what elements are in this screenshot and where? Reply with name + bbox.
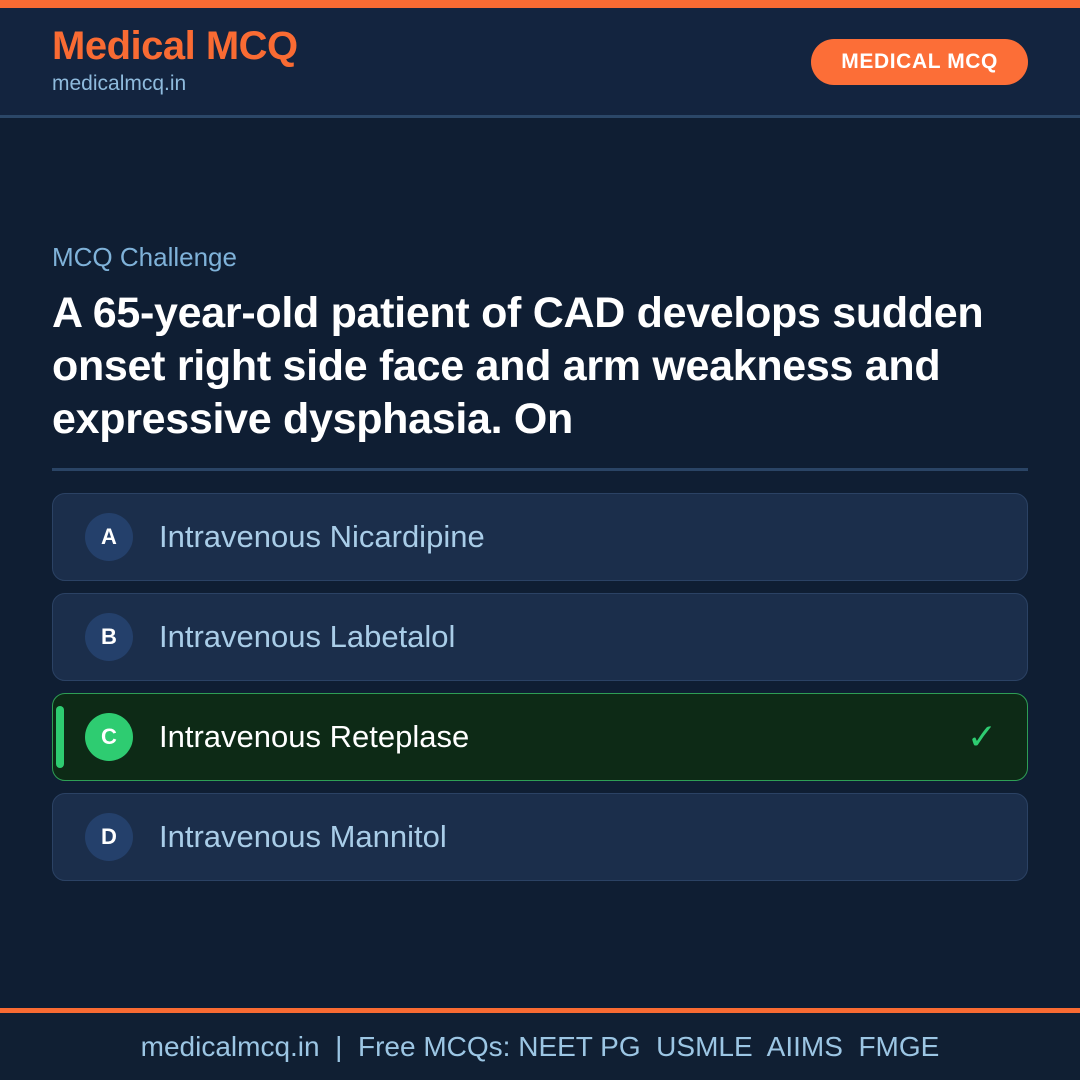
page-header: Medical MCQ medicalmcq.in MEDICAL MCQ [0,8,1080,118]
question-text: A 65-year-old patient of CAD develops su… [52,287,1028,446]
top-accent-bar [0,0,1080,8]
option-letter-badge: B [85,613,133,661]
eyebrow-label: MCQ Challenge [52,242,1028,273]
main-content: MCQ Challenge A 65-year-old patient of C… [0,242,1080,881]
option-letter-badge: A [85,513,133,561]
option-row-d[interactable]: D Intravenous Mannitol [52,793,1028,881]
brand-title: Medical MCQ [52,25,298,68]
header-badge: MEDICAL MCQ [811,39,1028,85]
option-label: Intravenous Mannitol [159,818,447,855]
option-letter-badge: D [85,813,133,861]
option-label: Intravenous Nicardipine [159,518,485,555]
option-label: Intravenous Labetalol [159,618,455,655]
option-row-a[interactable]: A Intravenous Nicardipine [52,493,1028,581]
option-row-c[interactable]: C Intravenous Reteplase ✓ [52,693,1028,781]
options-list: A Intravenous Nicardipine B Intravenous … [52,493,1028,881]
option-letter-badge: C [85,713,133,761]
question-divider [52,468,1028,471]
checkmark-icon: ✓ [967,719,997,755]
page-footer: medicalmcq.in | Free MCQs: NEET PG USMLE… [0,1008,1080,1080]
footer-text: medicalmcq.in | Free MCQs: NEET PG USMLE… [141,1030,940,1064]
brand-subtitle: medicalmcq.in [52,70,298,97]
option-label: Intravenous Reteplase [159,718,469,755]
correct-accent-bar [56,706,64,768]
brand-block: Medical MCQ medicalmcq.in [52,25,298,97]
option-row-b[interactable]: B Intravenous Labetalol [52,593,1028,681]
